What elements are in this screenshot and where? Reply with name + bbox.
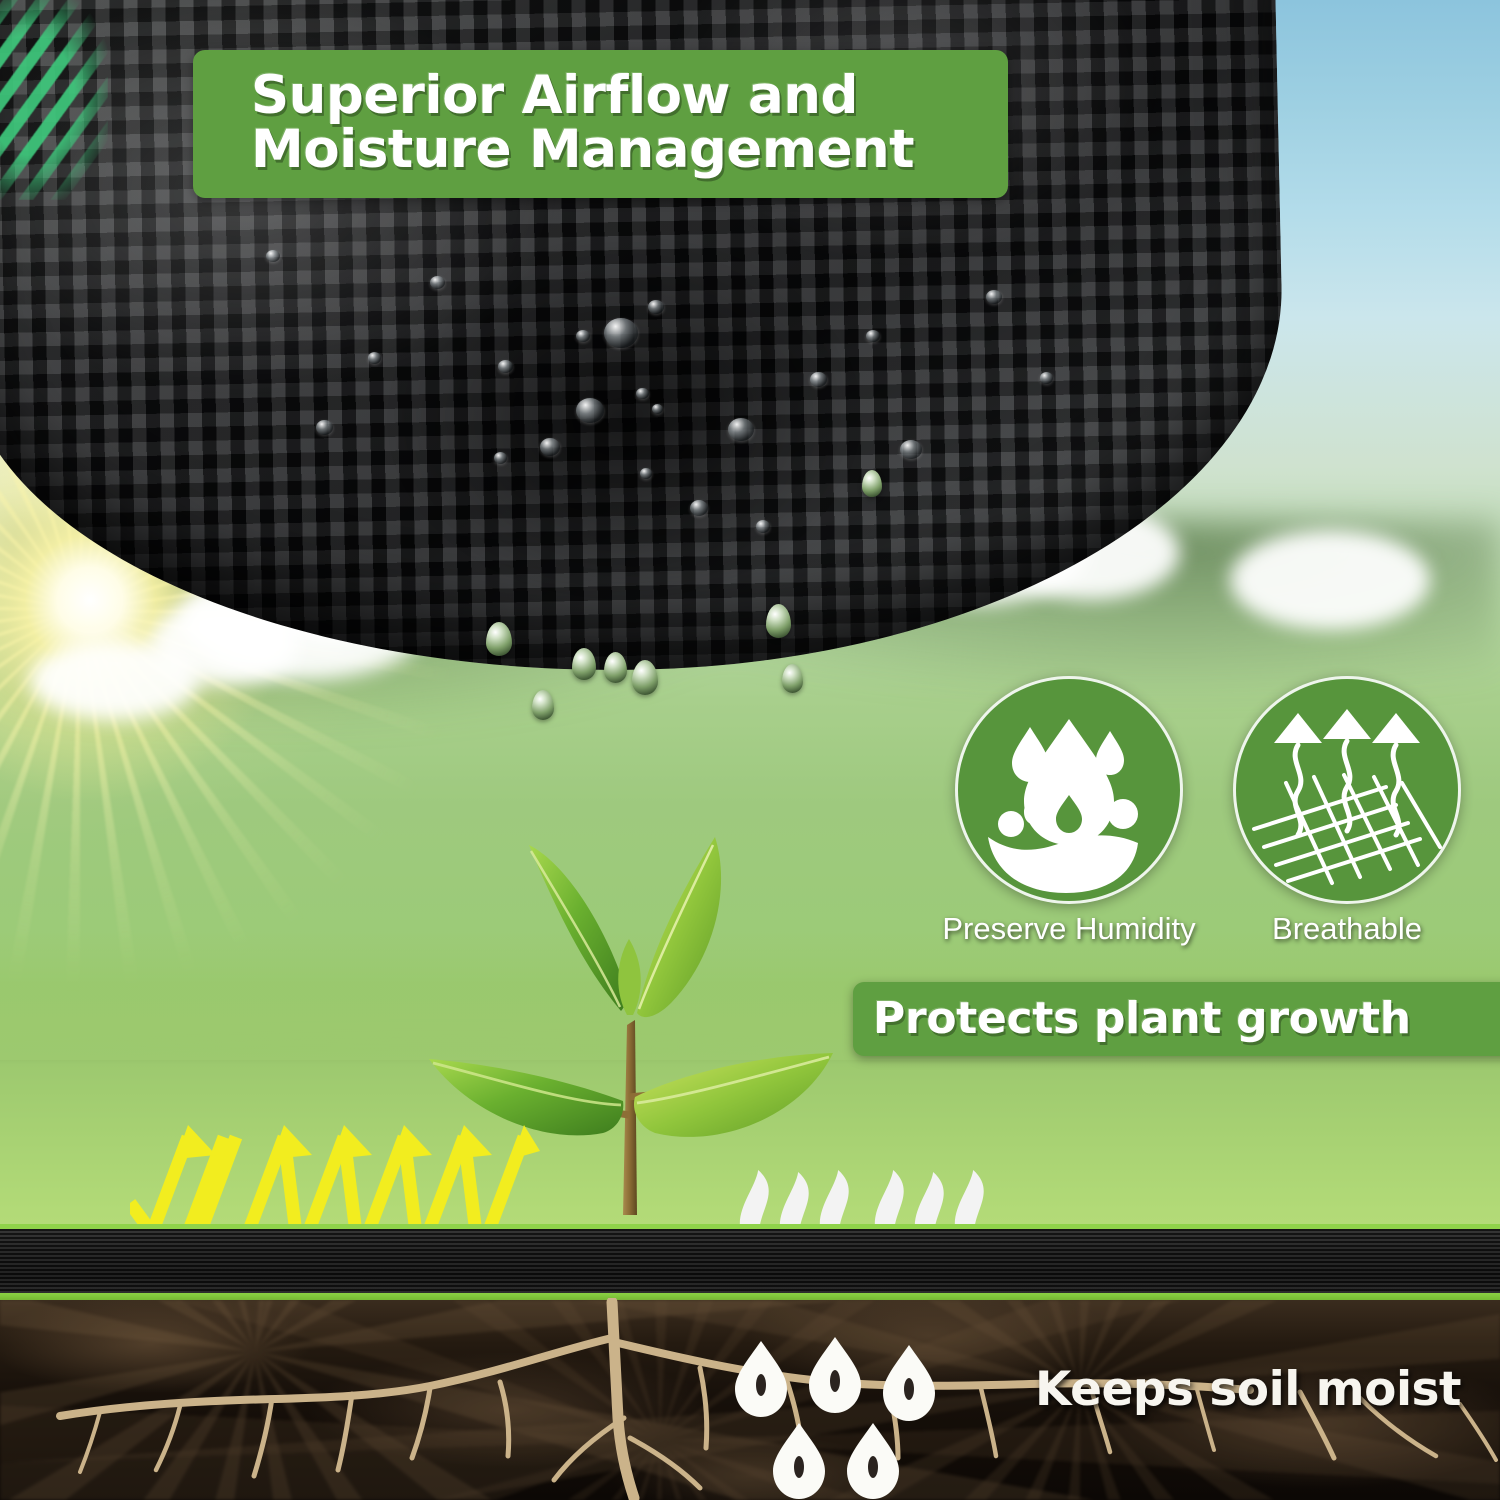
water-bead bbox=[648, 300, 664, 314]
water-drop-humidity-icon bbox=[958, 679, 1180, 901]
falling-water-drop bbox=[486, 622, 512, 656]
water-bead bbox=[576, 398, 604, 423]
falling-water-drop bbox=[604, 652, 627, 683]
fabric-green-stripe bbox=[0, 0, 108, 200]
water-bead bbox=[756, 520, 770, 533]
water-bead bbox=[810, 372, 827, 387]
ground-cover-fabric-strip bbox=[0, 1229, 1500, 1297]
water-bead bbox=[430, 276, 445, 289]
badge-label: Preserve Humidity bbox=[942, 912, 1195, 946]
badge-circle bbox=[1233, 676, 1461, 904]
headline-line-1: Superior Airflow and bbox=[251, 69, 1008, 123]
water-bead bbox=[1040, 372, 1053, 384]
badge-label: Breathable bbox=[1272, 912, 1422, 946]
falling-water-drop bbox=[572, 648, 596, 680]
water-bead bbox=[540, 438, 560, 456]
water-bead bbox=[266, 250, 280, 262]
water-bead bbox=[576, 330, 590, 342]
falling-water-drop bbox=[862, 470, 882, 497]
water-bead bbox=[690, 500, 708, 516]
water-bead bbox=[316, 420, 333, 435]
water-bead bbox=[900, 440, 922, 459]
headline-line-2: Moisture Management bbox=[251, 123, 1008, 177]
falling-water-drop bbox=[782, 664, 803, 693]
falling-water-drop bbox=[532, 690, 554, 720]
water-bead bbox=[498, 360, 513, 373]
badge-circle bbox=[955, 676, 1183, 904]
feature-badge-group: Preserve Humidity bbox=[955, 676, 1475, 946]
water-bead bbox=[604, 318, 638, 348]
badge-breathable[interactable]: Breathable bbox=[1233, 676, 1461, 904]
water-bead bbox=[652, 404, 663, 414]
water-bead bbox=[986, 290, 1002, 304]
protects-plant-growth-banner: Protects plant growth bbox=[853, 982, 1500, 1056]
falling-water-drop bbox=[632, 660, 658, 695]
water-droplet-icons bbox=[735, 1335, 975, 1500]
water-bead bbox=[728, 418, 754, 441]
water-bead bbox=[640, 468, 652, 479]
protects-plant-growth-text: Protects plant growth bbox=[873, 997, 1500, 1041]
headline-banner: Superior Airflow and Moisture Management bbox=[193, 50, 1008, 198]
water-bead bbox=[368, 352, 381, 364]
falling-water-drop bbox=[766, 604, 791, 638]
upward-airflow-mesh-icon bbox=[1236, 679, 1458, 901]
product-feature-image: Superior Airflow and Moisture Management bbox=[0, 0, 1500, 1500]
water-bead bbox=[636, 388, 649, 399]
water-bead bbox=[866, 330, 880, 342]
water-bead bbox=[494, 452, 507, 464]
keeps-soil-moist-text: Keeps soil moist bbox=[1035, 1355, 1495, 1425]
badge-preserve-humidity[interactable]: Preserve Humidity bbox=[955, 676, 1183, 904]
